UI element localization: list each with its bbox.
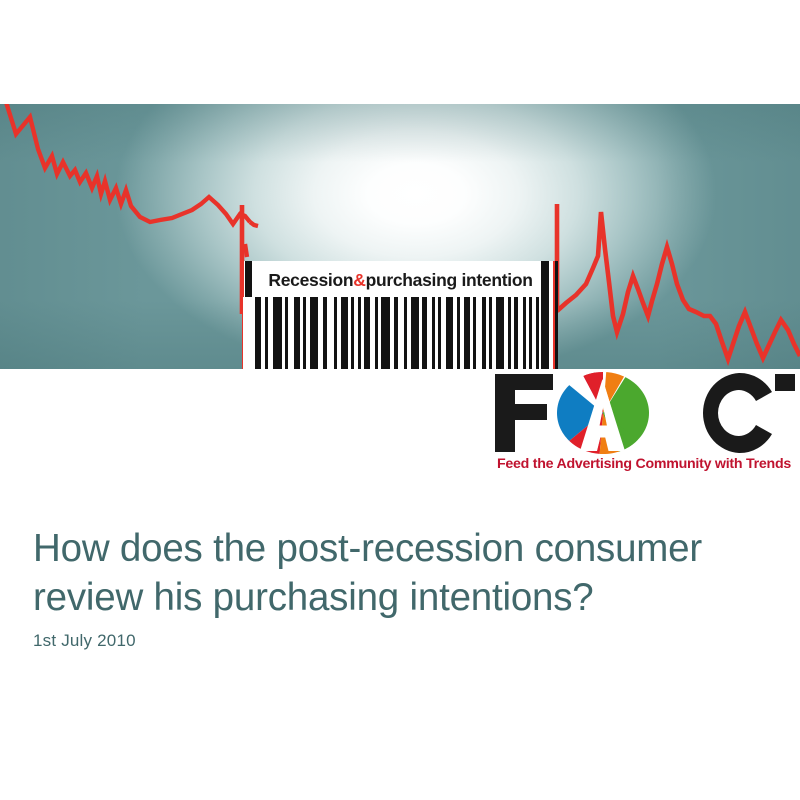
banner-image: Recession & purchasing intention — [0, 104, 800, 369]
logo-letter-f-icon — [495, 374, 553, 452]
barcode-title: Recession & purchasing intention — [243, 265, 558, 295]
barcode-title-part1: Recession — [268, 270, 353, 291]
logo-letter-a-fan-icon — [551, 370, 659, 456]
barcode-title-ampersand: & — [353, 270, 365, 291]
logo-letter-t-icon — [775, 374, 795, 452]
barcode-right-red-rail — [553, 261, 555, 369]
slide-canvas: Recession & purchasing intention — [0, 0, 800, 800]
fact-wordmark-icon — [491, 370, 795, 456]
barcode-right-guard-bar — [541, 261, 549, 369]
slide-date: 1st July 2010 — [33, 631, 136, 651]
fact-logo-letters — [491, 370, 795, 456]
barcode-bars — [243, 297, 558, 369]
fact-logo-tagline: Feed the Advertising Community with Tren… — [493, 456, 795, 472]
fact-logo: Feed the Advertising Community with Tren… — [491, 370, 795, 482]
barcode-graphic: Recession & purchasing intention — [243, 261, 558, 369]
logo-letter-c-icon — [703, 373, 772, 453]
page-title: How does the post-recession consumer rev… — [33, 524, 763, 622]
barcode-title-part2: purchasing intention — [366, 270, 533, 291]
